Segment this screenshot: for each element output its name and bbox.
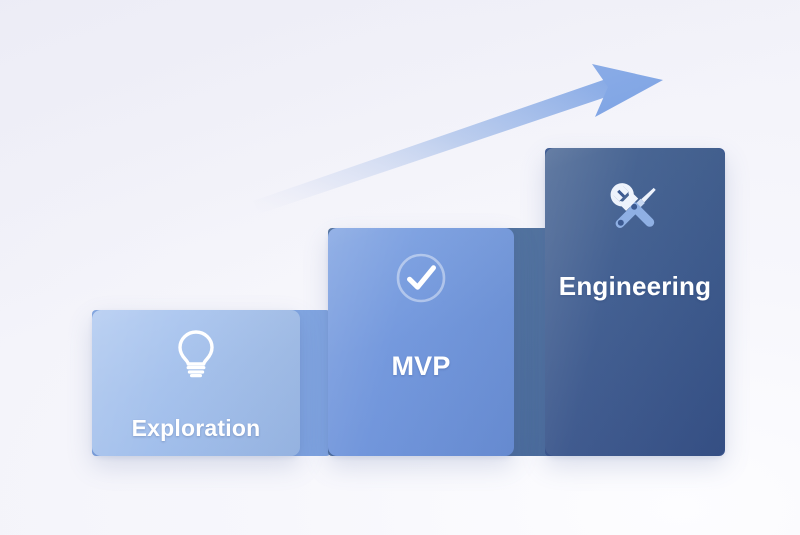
check-circle-icon <box>393 250 449 311</box>
step-exploration-face[interactable]: Exploration <box>92 310 300 456</box>
step-exploration-label: Exploration <box>132 415 261 442</box>
step-mvp-face[interactable]: MVP <box>328 228 514 456</box>
arrow-head <box>592 64 663 117</box>
step-engineering-face[interactable]: Engineering <box>545 148 725 456</box>
lightbulb-icon <box>173 328 219 383</box>
step-engineering-label: Engineering <box>559 271 711 302</box>
step-engineering[interactable]: Engineering <box>545 148 725 456</box>
infographic-canvas: Exploration MVP <box>0 0 800 535</box>
step-mvp-label: MVP <box>391 351 450 382</box>
step-mvp[interactable]: MVP <box>328 228 558 456</box>
tools-icon <box>598 170 672 251</box>
step-exploration[interactable]: Exploration <box>92 310 332 456</box>
